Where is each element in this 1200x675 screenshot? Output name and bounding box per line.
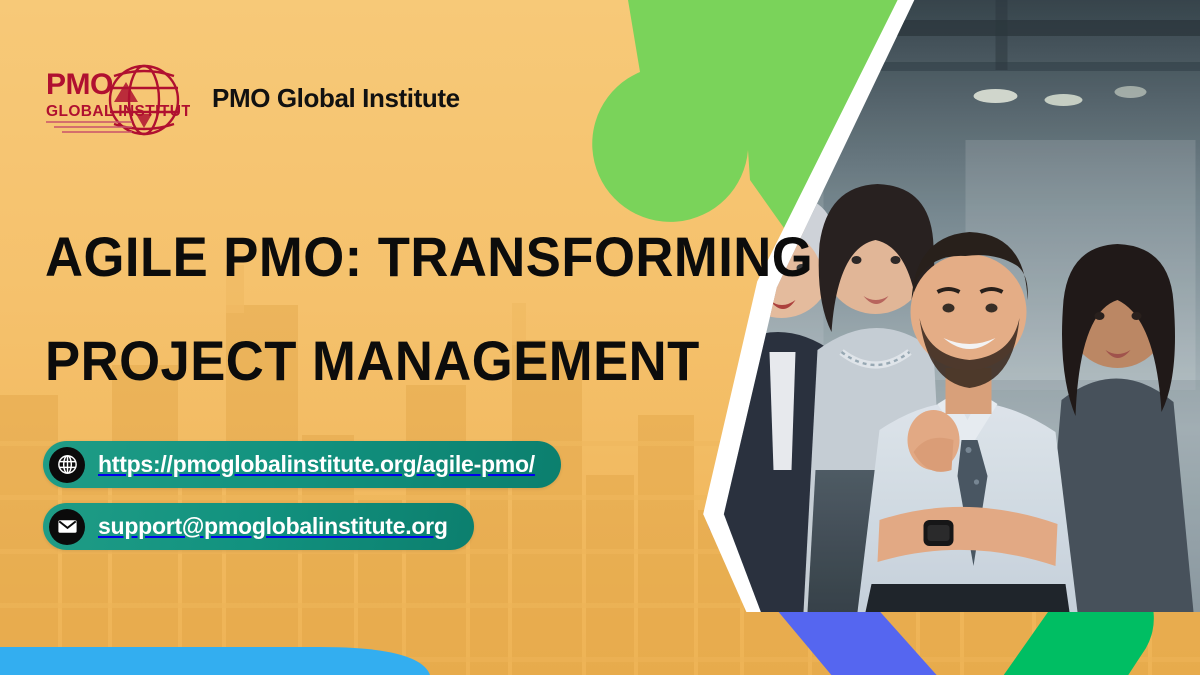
headline-line-2: Project Management bbox=[45, 309, 628, 413]
promo-banner: PMO GLOBAL INSTITUTE PMO Global Institut… bbox=[0, 0, 1200, 675]
business-team-photo-art bbox=[671, 0, 1200, 612]
svg-text:PMO: PMO bbox=[46, 68, 113, 101]
headline-line-1: Agile PMO: Transforming bbox=[45, 205, 628, 309]
pmo-globe-logo: PMO GLOBAL INSTITUTE bbox=[40, 58, 190, 138]
photo-panel bbox=[660, 0, 1200, 612]
svg-text:GLOBAL INSTITUTE: GLOBAL INSTITUTE bbox=[46, 103, 190, 120]
email-text: support@pmoglobalinstitute.org bbox=[98, 513, 448, 540]
brand-row: PMO GLOBAL INSTITUTE PMO Global Institut… bbox=[40, 58, 460, 138]
website-url-text: https://pmoglobalinstitute.org/agile-pmo… bbox=[98, 451, 535, 478]
email-pill[interactable]: support@pmoglobalinstitute.org bbox=[43, 503, 474, 550]
website-url-pill[interactable]: https://pmoglobalinstitute.org/agile-pmo… bbox=[43, 441, 561, 488]
envelope-icon bbox=[49, 509, 85, 545]
page-title: Agile PMO: Transforming Project Manageme… bbox=[45, 205, 665, 413]
business-team-photo bbox=[671, 0, 1200, 612]
globe-icon bbox=[49, 447, 85, 483]
brand-name: PMO Global Institute bbox=[212, 83, 460, 114]
